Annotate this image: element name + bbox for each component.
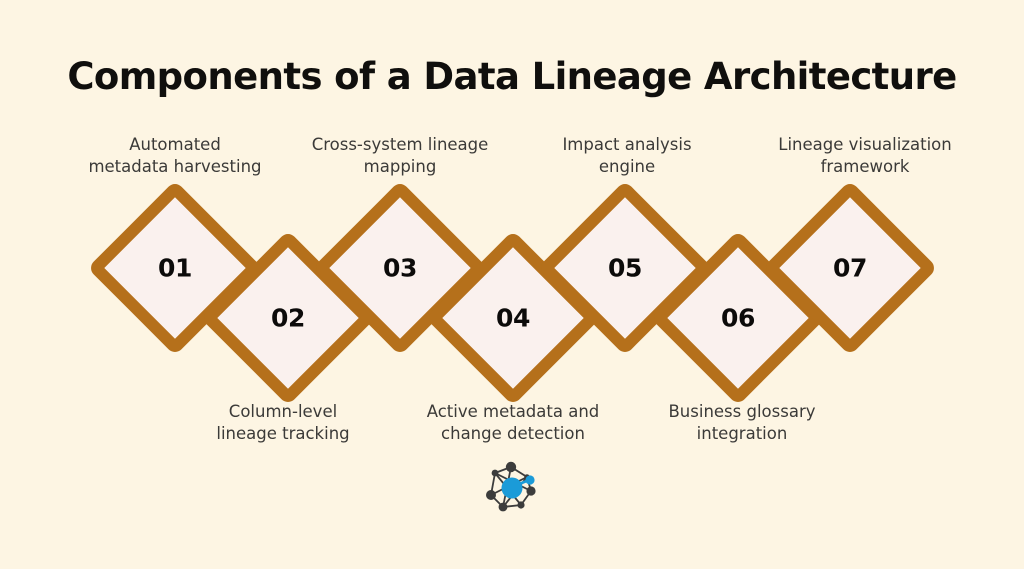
step-caption-02: Column-level lineage tracking	[168, 401, 398, 445]
step-number-01: 01	[158, 256, 192, 281]
step-number-06: 06	[721, 306, 755, 331]
infographic-canvas: Components of a Data Lineage Architectur…	[0, 0, 1024, 569]
step-caption-05: Impact analysis engine	[512, 134, 742, 178]
network-graph-logo	[481, 461, 543, 517]
step-caption-03: Cross-system lineage mapping	[285, 134, 515, 178]
step-number-04: 04	[496, 306, 530, 331]
step-caption-06: Business glossary integration	[627, 401, 857, 445]
step-number-07: 07	[833, 256, 867, 281]
step-number-05: 05	[608, 256, 642, 281]
step-number-02: 02	[271, 306, 305, 331]
step-caption-07: Lineage visualization framework	[740, 134, 990, 178]
page-title: Components of a Data Lineage Architectur…	[0, 55, 1024, 98]
step-caption-01: Automated metadata harvesting	[55, 134, 295, 178]
step-caption-04: Active metadata and change detection	[398, 401, 628, 445]
step-number-03: 03	[383, 256, 417, 281]
